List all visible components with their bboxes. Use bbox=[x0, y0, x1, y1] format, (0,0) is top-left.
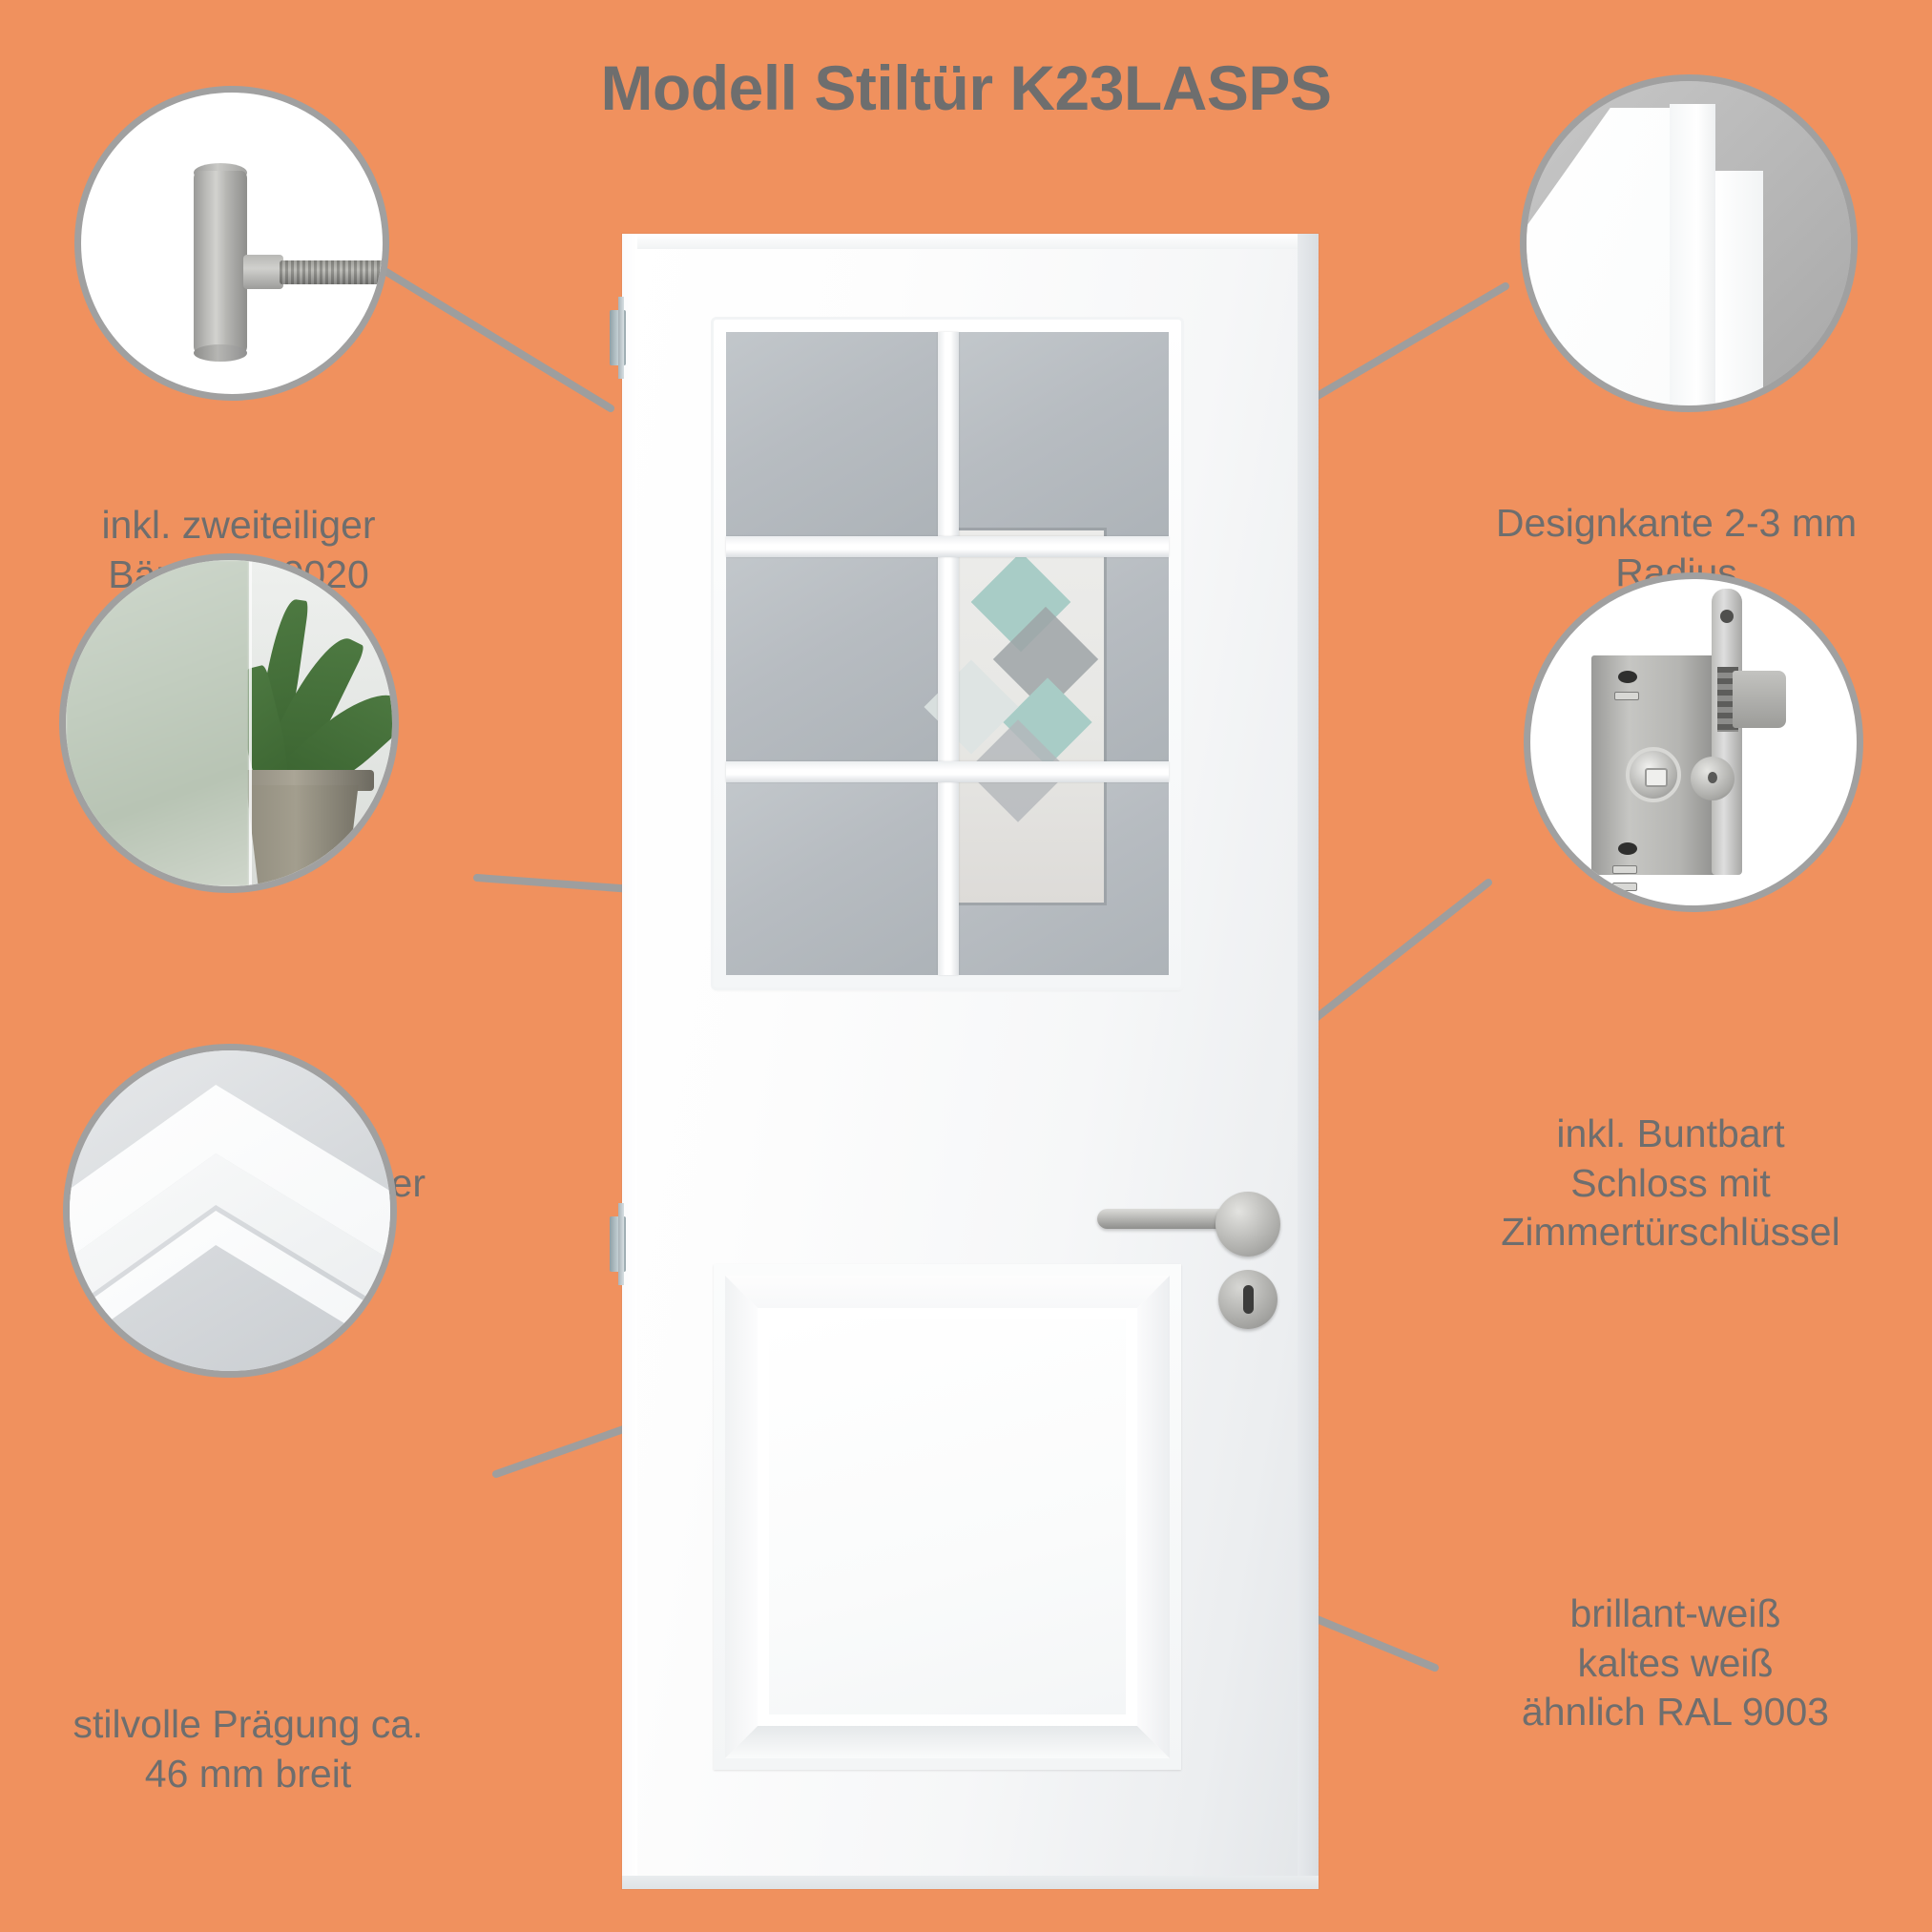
decorative-glass-motif bbox=[944, 530, 1104, 903]
glazing-bar-horizontal-1 bbox=[726, 536, 1169, 557]
callout-design-edge-circle bbox=[1520, 74, 1858, 412]
lock-rivet-bottom-icon bbox=[1618, 842, 1637, 855]
callout-glass-circle bbox=[59, 553, 399, 893]
callout-lock-circle bbox=[1524, 572, 1863, 912]
design-edge-rib-1-icon bbox=[1670, 104, 1715, 412]
keyhole-escutcheon[interactable] bbox=[1218, 1270, 1278, 1329]
infographic-canvas: Modell Stiltür K23LASPS bbox=[0, 0, 1932, 1932]
glass-pane-1 bbox=[726, 332, 938, 536]
design-edge-rib-2-icon bbox=[1715, 171, 1763, 412]
glass-pane-3 bbox=[726, 557, 938, 761]
door-left-edge bbox=[622, 234, 637, 1889]
panel-moulding bbox=[725, 1276, 1170, 1758]
lock-faceplate-hole-icon bbox=[1720, 610, 1734, 623]
callout-hinges-circle bbox=[74, 86, 389, 401]
lock-latch-icon bbox=[1733, 671, 1786, 728]
lock-slot-1-icon bbox=[1614, 692, 1639, 700]
lock-slot-2-icon bbox=[1612, 865, 1637, 874]
glass-seam bbox=[249, 560, 252, 886]
lower-raised-panel bbox=[714, 1264, 1181, 1770]
door-bottom-edge bbox=[622, 1876, 1319, 1889]
glazing-frame bbox=[714, 320, 1181, 987]
panel-bevel-right bbox=[1137, 1276, 1170, 1758]
callout-colour-caption: brillant-weiß kaltes weiß ähnlich RAL 90… bbox=[1451, 1589, 1900, 1737]
panel-flat-field bbox=[769, 1319, 1126, 1714]
hinge-pin-foot-icon bbox=[194, 344, 247, 362]
connector-lock bbox=[1315, 883, 1488, 1019]
frosted-glass-side bbox=[66, 560, 249, 886]
hinge-upper-pin bbox=[618, 297, 624, 379]
panel-bevel-top bbox=[725, 1276, 1170, 1308]
callout-embossing-caption: stilvolle Prägung ca. 46 mm breit bbox=[29, 1700, 467, 1798]
panel-bevel-bottom bbox=[725, 1726, 1170, 1758]
glazing-glass-area bbox=[726, 332, 1169, 975]
glazing-bar-horizontal-2 bbox=[726, 761, 1169, 782]
callout-lock-caption: inkl. Buntbart Schloss mit Zimmertürschl… bbox=[1423, 1110, 1919, 1257]
glazing-bar-vertical bbox=[938, 332, 959, 975]
lock-follower-icon bbox=[1626, 747, 1681, 802]
lock-slot-3-icon bbox=[1612, 883, 1637, 891]
glass-pane-5 bbox=[726, 782, 938, 975]
connector-hinges bbox=[386, 272, 611, 408]
lock-rivet-top-icon bbox=[1618, 671, 1637, 683]
hinge-screw-thread-icon bbox=[280, 260, 389, 284]
door-right-edge bbox=[1298, 234, 1319, 1889]
callout-embossing-circle bbox=[63, 1044, 397, 1378]
panel-bevel-left bbox=[725, 1276, 758, 1758]
door-leaf bbox=[622, 234, 1319, 1889]
connector-design-edge bbox=[1293, 286, 1506, 410]
hinge-screw-neck-icon bbox=[243, 255, 283, 289]
handle-rosette bbox=[1215, 1192, 1280, 1257]
hinge-pin-body-icon bbox=[194, 171, 247, 354]
hinge-lower-pin bbox=[618, 1203, 624, 1285]
lock-keyhole-icon bbox=[1691, 757, 1735, 800]
door-top-edge bbox=[622, 234, 1319, 249]
lock-faceplate-icon bbox=[1712, 589, 1742, 875]
glass-pane-2 bbox=[957, 332, 1169, 536]
